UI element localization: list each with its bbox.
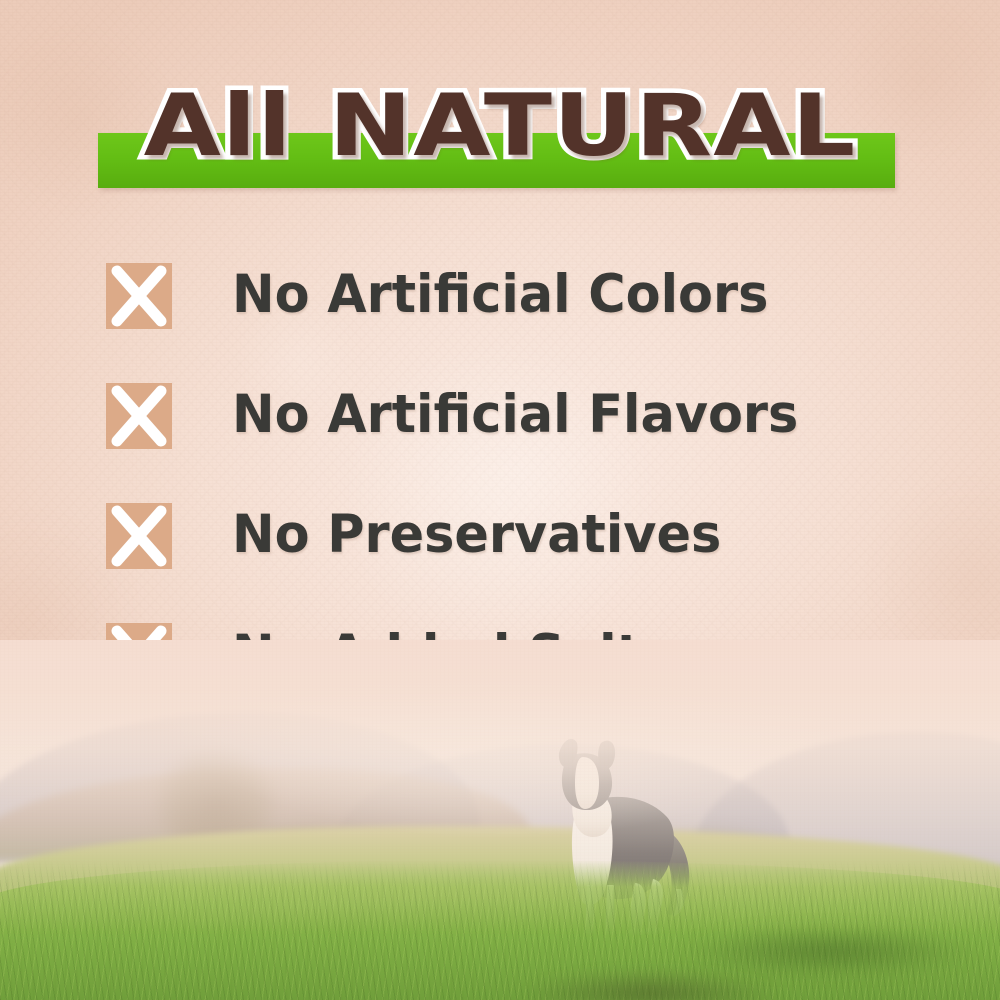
- dog-photo: [0, 640, 1000, 1000]
- x-mark-icon: [106, 383, 172, 449]
- claim-label: No Preservatives: [232, 492, 721, 578]
- grass-shadow: [620, 916, 1000, 986]
- claim-label: No Artificial Colors: [232, 252, 768, 338]
- x-mark-icon: [106, 503, 172, 569]
- all-natural-poster: All NATURAL No Artificial Colors No Arti…: [0, 0, 1000, 1000]
- list-item: No Preservatives: [106, 498, 936, 618]
- claim-label: No Artificial Flavors: [232, 372, 798, 458]
- list-item: No Artificial Flavors: [106, 378, 936, 498]
- list-item: No Artificial Colors: [106, 258, 936, 378]
- page-title: All NATURAL: [0, 78, 1000, 174]
- x-mark-icon: [106, 263, 172, 329]
